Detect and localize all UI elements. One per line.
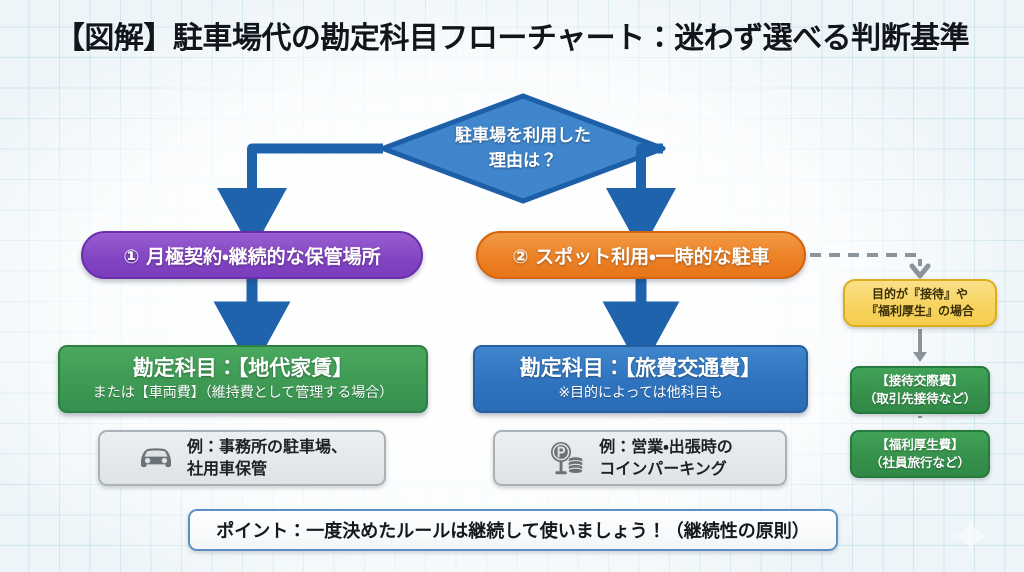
footer-banner-text: ポイント：一度決めたルールは継続して使いましょう！（継続性の原則） [216, 517, 809, 543]
example-office-parking-text: 例：事務所の駐車場、 社用車保管 [187, 436, 347, 481]
result-box-travel-expense: 勘定科目：【旅費交通費】 ※目的によっては他科目も [473, 345, 808, 413]
decision-node-label: 駐車場を利用した 理由は？ [383, 96, 663, 201]
result-land-rent-note: または【車両費】（維持費として管理する場合） [93, 384, 394, 403]
result-travel-expense-note: ※目的によっては他科目も [558, 384, 722, 403]
side-note-line-2: 『福利厚生』の場合 [866, 303, 974, 320]
example-coin-parking-line-1: 例：営業・出張時の [599, 437, 732, 456]
outcome-entertainment-note: （取引先接待など） [864, 390, 977, 408]
example-office-parking-line-2: 社用車保管 [187, 459, 267, 478]
car-icon [137, 445, 175, 471]
decision-line-1: 駐車場を利用した [455, 124, 591, 149]
result-box-land-rent: 勘定科目：【地代家賃】 または【車両費】（維持費として管理する場合） [58, 345, 428, 413]
example-coin-parking-text: 例：営業・出張時の コインパーキング [599, 436, 732, 481]
example-box-office-parking: 例：事務所の駐車場、 社用車保管 [98, 430, 386, 486]
footer-banner: ポイント：一度決めたルールは継続して使いましょう！（継続性の原則） [188, 509, 838, 551]
example-box-coin-parking: 例：営業・出張時の コインパーキング [493, 430, 787, 486]
side-note-line-1: 目的が『接待』や [872, 286, 968, 303]
branch-option-monthly-contract[interactable]: ① 月極契約・継続的な保管場所 [81, 231, 423, 279]
side-note-purpose: 目的が『接待』や 『福利厚生』の場合 [843, 279, 997, 327]
page-title: 【図解】駐車場代の勘定科目フローチャート：迷わず選べる判断基準 [0, 13, 1024, 57]
branch-option-spot-use-label: ② スポット利用・一時的な駐車 [512, 242, 769, 269]
decision-line-2: 理由は？ [489, 149, 557, 174]
decision-node: 駐車場を利用した 理由は？ [383, 96, 663, 201]
parking-meter-coins-icon [547, 441, 587, 475]
outcome-welfare-expense: 【福利厚生費】 （社員旅行など） [850, 430, 990, 478]
branch-option-monthly-contract-label: ① 月極契約・継続的な保管場所 [123, 242, 380, 269]
example-office-parking-line-1: 例：事務所の駐車場、 [187, 437, 347, 456]
outcome-welfare-title: 【福利厚生費】 [876, 436, 964, 454]
example-coin-parking-line-2: コインパーキング [599, 459, 727, 478]
result-land-rent-title: 勘定科目：【地代家賃】 [133, 355, 354, 381]
outcome-welfare-note: （社員旅行など） [870, 454, 970, 472]
outcome-entertainment-title: 【接待交際費】 [876, 372, 964, 390]
result-travel-expense-title: 勘定科目：【旅費交通費】 [520, 355, 762, 381]
branch-option-spot-use[interactable]: ② スポット利用・一時的な駐車 [476, 231, 806, 279]
outcome-entertainment-expense: 【接待交際費】 （取引先接待など） [850, 366, 990, 414]
